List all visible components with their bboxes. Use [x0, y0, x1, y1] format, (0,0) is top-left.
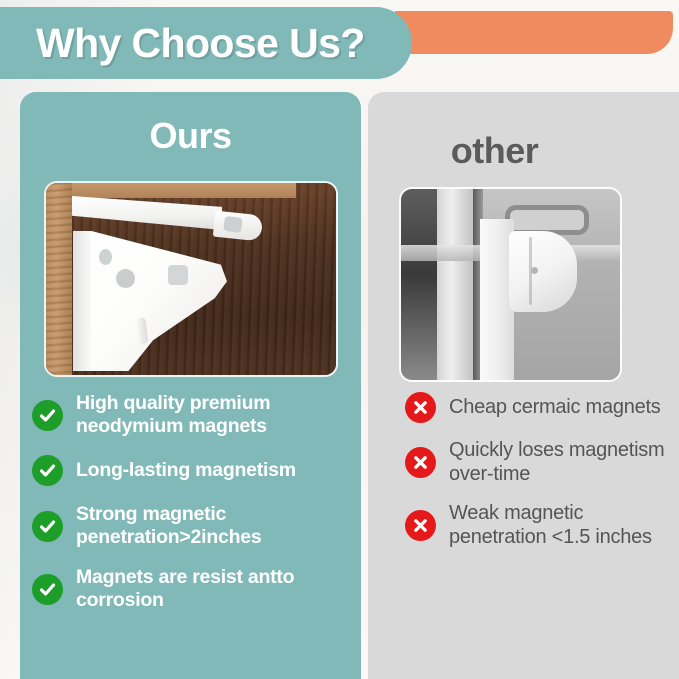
feature-row: Long-lasting magnetism [32, 455, 361, 486]
column-heading-other: other [368, 130, 621, 172]
comparison-section: Ours High quality premium neodymium magn… [0, 92, 679, 679]
feature-text: Strong magnetic penetration>2inches [76, 503, 361, 549]
feature-row: Strong magnetic penetration>2inches [32, 503, 361, 549]
competitor-cabinet-stile [437, 189, 473, 380]
feature-text: Quickly loses magnetism over-time [449, 439, 679, 486]
cross-circle-icon [405, 447, 436, 478]
check-circle-icon [32, 455, 63, 486]
competitor-lock-screw [531, 267, 538, 274]
cabinet-frame-top [46, 183, 296, 198]
lock-mounting-plate [73, 231, 91, 371]
check-circle-icon [32, 511, 63, 542]
cross-circle-icon [405, 510, 436, 541]
product-photo-ours [46, 183, 336, 375]
feature-row: Cheap cermaic magnets [405, 392, 679, 423]
feature-row: Weak magnetic penetration <1.5 inches [405, 502, 679, 549]
competitor-lock-head [509, 231, 577, 312]
header-banner: Why Choose Us? [0, 7, 412, 79]
cross-circle-icon [405, 392, 436, 423]
lock-catch-arm-pad [223, 216, 243, 233]
feature-text: Long-lasting magnetism [76, 459, 296, 482]
column-heading-ours: Ours [20, 115, 361, 157]
lock-screw-upper [99, 249, 112, 265]
product-photo-other [401, 189, 620, 380]
feature-list-ours: High quality premium neodymium magnets L… [32, 392, 361, 629]
feature-text: Magnets are resist antto corrosion [76, 566, 361, 612]
comparison-column-other: other Cheap cermaic magnets [368, 92, 679, 679]
check-circle-icon [32, 400, 63, 431]
page-title: Why Choose Us? [36, 20, 365, 67]
check-circle-icon [32, 574, 63, 605]
lock-screw-lower [116, 269, 135, 288]
header-orange-accent-bar [395, 11, 673, 54]
feature-text: High quality premium neodymium magnets [76, 392, 361, 438]
feature-text: Weak magnetic penetration <1.5 inches [449, 502, 679, 549]
feature-row: Magnets are resist antto corrosion [32, 566, 361, 612]
feature-list-other: Cheap cermaic magnets Quickly loses magn… [405, 392, 679, 565]
cabinet-frame-left [46, 183, 72, 375]
feature-row: Quickly loses magnetism over-time [405, 439, 679, 486]
feature-row: High quality premium neodymium magnets [32, 392, 361, 438]
lock-body-notch [168, 265, 188, 285]
comparison-column-ours: Ours High quality premium neodymium magn… [20, 92, 361, 679]
feature-text: Cheap cermaic magnets [449, 396, 661, 420]
